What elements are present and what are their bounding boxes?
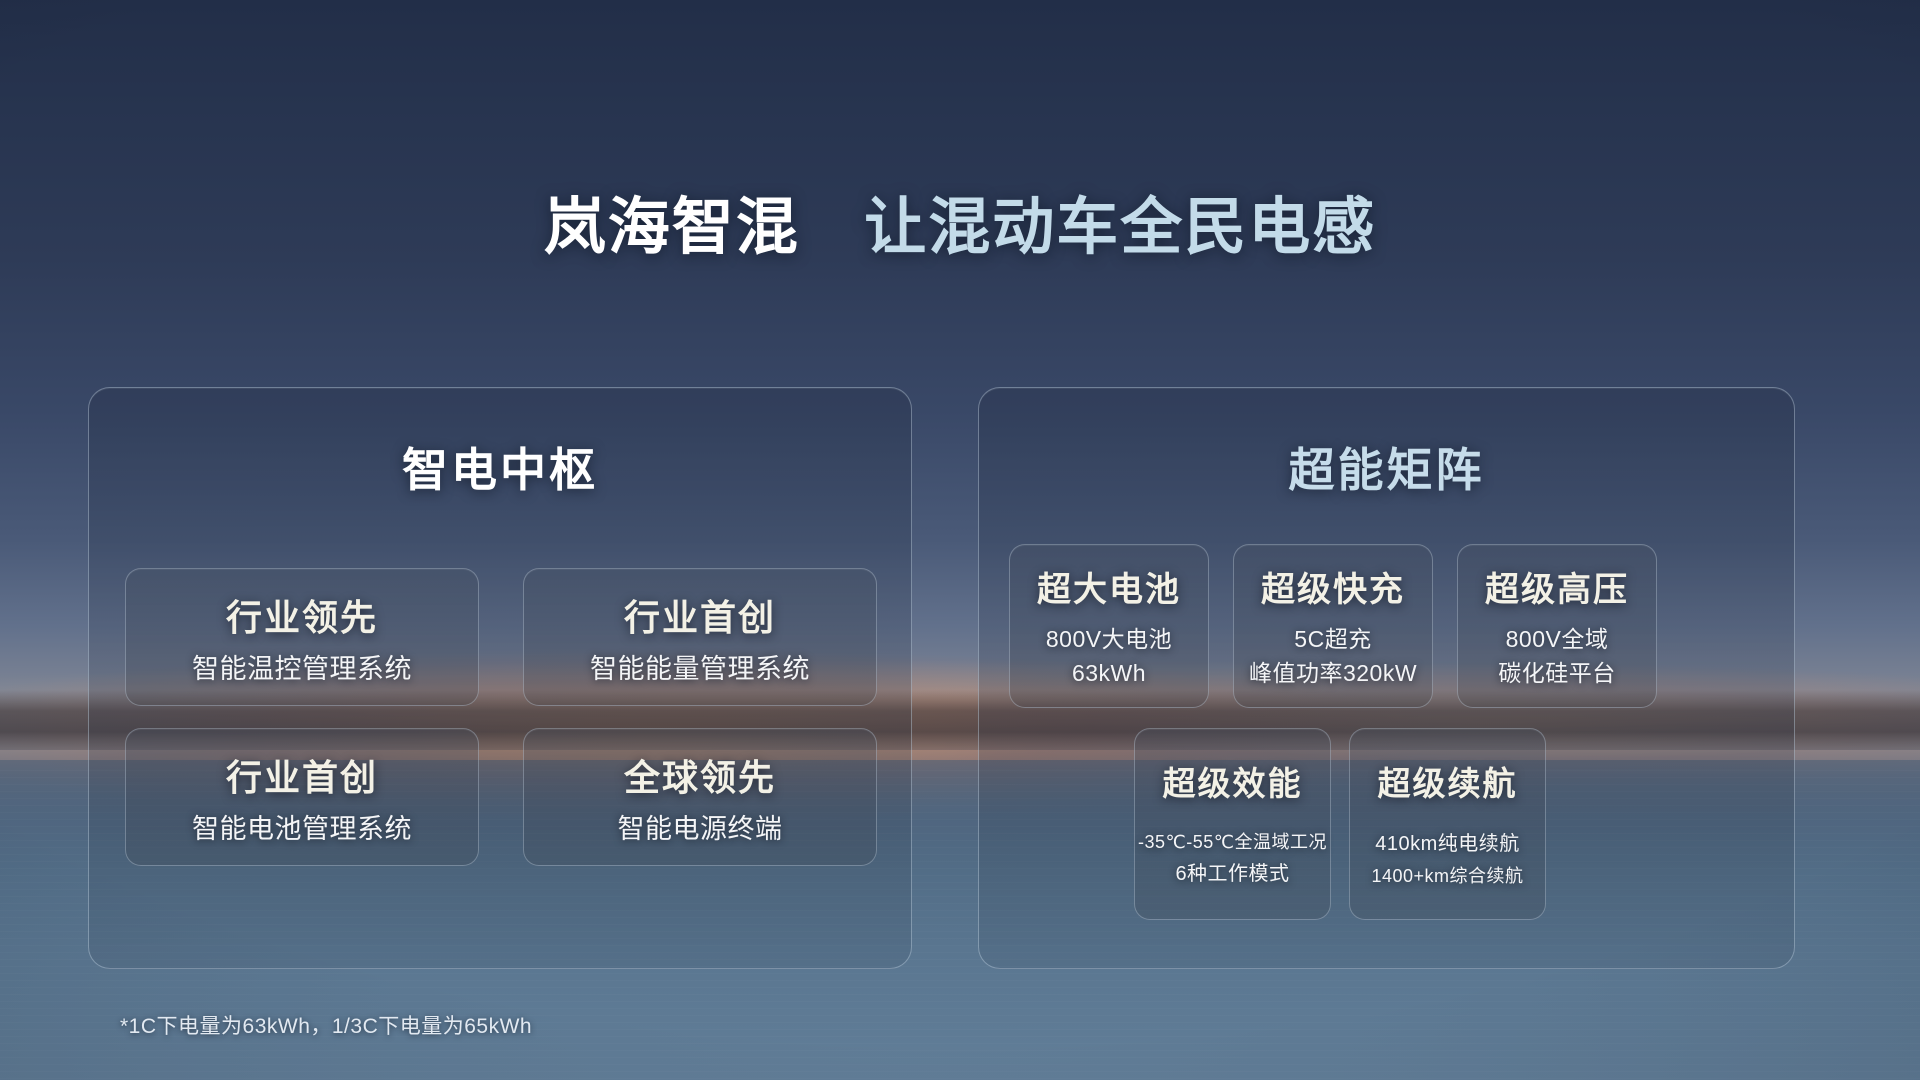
card-sub-line-2: 峰值功率320kW bbox=[1249, 657, 1417, 690]
card-industry-leading-thermal[interactable]: 行业领先 智能温控管理系统 bbox=[125, 568, 479, 706]
panel-left-card-grid: 行业领先 智能温控管理系统 行业首创 智能能量管理系统 行业首创 智能电池管理系… bbox=[125, 568, 877, 866]
card-super-high-voltage[interactable]: 超级高压 800V全域 碳化硅平台 bbox=[1457, 544, 1657, 708]
card-sub: 智能能量管理系统 bbox=[590, 647, 810, 686]
card-head: 全球领先 bbox=[624, 749, 776, 801]
card-big-battery[interactable]: 超大电池 800V大电池 63kWh bbox=[1009, 544, 1209, 708]
card-head: 超级高压 bbox=[1485, 562, 1629, 611]
card-super-fast-charging[interactable]: 超级快充 5C超充 峰值功率320kW bbox=[1233, 544, 1433, 708]
card-industry-first-energy[interactable]: 行业首创 智能能量管理系统 bbox=[523, 568, 877, 706]
card-sub-line-2: 6种工作模式 bbox=[1175, 857, 1289, 891]
card-global-leading-power-terminal[interactable]: 全球领先 智能电源终端 bbox=[523, 728, 877, 866]
panel-right-title: 超能矩阵 bbox=[979, 434, 1794, 500]
panel-right-card-row-1: 超大电池 800V大电池 63kWh 超级快充 5C超充 峰值功率320kW 超… bbox=[1009, 544, 1657, 708]
card-sub-line-1: 800V大电池 bbox=[1046, 623, 1172, 656]
card-sub: 智能电池管理系统 bbox=[192, 807, 412, 846]
card-sub-line-1: 5C超充 bbox=[1294, 623, 1371, 656]
page-title-accent: 让混动车全民电感 bbox=[864, 193, 1376, 262]
card-head: 超级快充 bbox=[1261, 562, 1405, 611]
card-super-efficiency[interactable]: 超级效能 -35℃-55℃全温域工况 6种工作模式 bbox=[1134, 728, 1331, 920]
card-head: 行业领先 bbox=[226, 589, 378, 641]
card-head: 超级效能 bbox=[1163, 757, 1303, 805]
card-head: 行业首创 bbox=[226, 749, 378, 801]
page-title-main: 岚海智混 bbox=[544, 193, 800, 262]
panel-left-title: 智电中枢 bbox=[89, 434, 911, 500]
slide-root: 岚海智混 让混动车全民电感 智电中枢 行业领先 智能温控管理系统 行业首创 智能… bbox=[0, 0, 1920, 1080]
card-sub-line-1: 410km纯电续航 bbox=[1375, 827, 1520, 861]
page-title: 岚海智混 让混动车全民电感 bbox=[0, 176, 1920, 266]
card-sub-line-1: -35℃-55℃全温域工况 bbox=[1138, 827, 1327, 858]
card-industry-first-battery[interactable]: 行业首创 智能电池管理系统 bbox=[125, 728, 479, 866]
card-head: 超大电池 bbox=[1037, 562, 1181, 611]
card-sub-line-2: 63kWh bbox=[1072, 657, 1146, 690]
panel-right-card-row-2: 超级效能 -35℃-55℃全温域工况 6种工作模式 超级续航 410km纯电续航… bbox=[1134, 728, 1546, 920]
card-sub-line-2: 碳化硅平台 bbox=[1498, 657, 1616, 690]
panel-smart-electric-hub: 智电中枢 行业领先 智能温控管理系统 行业首创 智能能量管理系统 行业首创 智能… bbox=[88, 387, 912, 969]
card-super-range[interactable]: 超级续航 410km纯电续航 1400+km综合续航 bbox=[1349, 728, 1546, 920]
card-head: 超级续航 bbox=[1378, 757, 1518, 805]
card-sub: 智能电源终端 bbox=[618, 807, 783, 846]
card-sub-line-2: 1400+km综合续航 bbox=[1371, 861, 1523, 892]
panel-super-power-matrix: 超能矩阵 超大电池 800V大电池 63kWh 超级快充 5C超充 峰值功率32… bbox=[978, 387, 1795, 969]
footnote-disclaimer: *1C下电量为63kWh，1/3C下电量为65kWh bbox=[120, 1010, 532, 1040]
card-head: 行业首创 bbox=[624, 589, 776, 641]
card-sub: 智能温控管理系统 bbox=[192, 647, 412, 686]
card-sub-line-1: 800V全域 bbox=[1506, 623, 1609, 656]
